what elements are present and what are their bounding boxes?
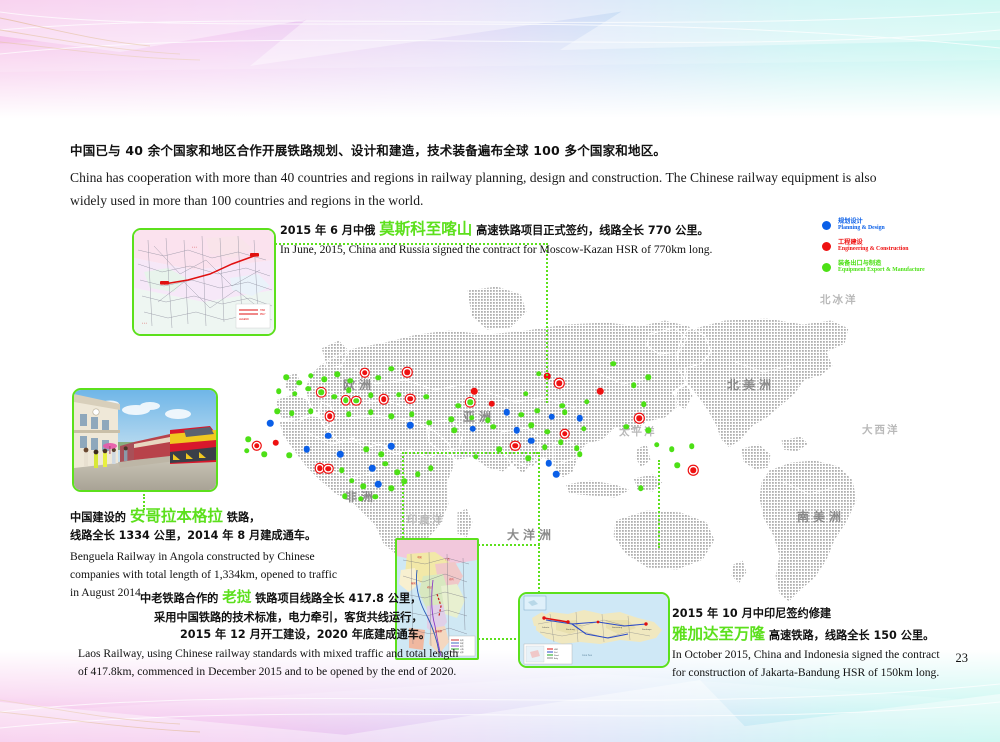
map-marker-green[interactable] bbox=[334, 371, 340, 377]
svg-text:HSR: HSR bbox=[554, 649, 559, 651]
map-marker-ring[interactable] bbox=[254, 443, 260, 449]
map-marker-ring[interactable] bbox=[637, 416, 643, 422]
map-marker-green[interactable] bbox=[559, 403, 565, 409]
map-marker-ringg[interactable] bbox=[353, 398, 359, 404]
map-marker-green[interactable] bbox=[368, 409, 374, 415]
svg-text:Jakarta: Jakarta bbox=[542, 626, 550, 629]
svg-text:RWY: RWY bbox=[260, 313, 266, 316]
map-marker-ring[interactable] bbox=[317, 465, 323, 471]
callout-benguela-en-line1: Benguela Railway in Angola constructed b… bbox=[70, 548, 337, 566]
svg-text:Semarang: Semarang bbox=[612, 626, 623, 629]
map-marker-ring[interactable] bbox=[691, 467, 697, 473]
map-marker-ring[interactable] bbox=[405, 369, 411, 375]
map-marker-green[interactable] bbox=[631, 383, 637, 389]
map-marker-green[interactable] bbox=[645, 374, 651, 380]
moscow-cn-pre: 2015 年 6 月中俄 bbox=[280, 224, 379, 237]
ocean-label-arctic: 北冰洋 bbox=[820, 292, 858, 307]
map-marker-green[interactable] bbox=[409, 411, 415, 417]
map-marker-green[interactable] bbox=[610, 361, 616, 367]
intro-en-line-2: in more than 100 countries and regions i… bbox=[139, 193, 424, 208]
inset-java-jakarta-bandung-map[interactable]: HSRRail RoadBdry Java Sea JakartaBandung… bbox=[518, 592, 670, 668]
map-marker-ring[interactable] bbox=[362, 370, 368, 376]
map-marker-green[interactable] bbox=[448, 416, 454, 422]
callout-laos-en-line2: of 417.8km, commenced in December 2015 a… bbox=[78, 663, 392, 681]
benguela-station-photo-graphic bbox=[74, 390, 216, 490]
map-marker-red[interactable] bbox=[489, 400, 496, 407]
map-marker-blue[interactable] bbox=[267, 420, 274, 427]
map-marker-green[interactable] bbox=[558, 439, 564, 445]
laos-cn-post: 铁路项目线路全长 417.8 公里， bbox=[251, 592, 421, 605]
map-marker-green[interactable] bbox=[292, 391, 298, 397]
callout-moscow-kazan-en: In June, 2015, China and Russia signed t… bbox=[280, 241, 712, 259]
map-marker-blue[interactable] bbox=[337, 451, 344, 458]
callout-moscow-kazan-cn: 2015 年 6 月中俄 莫斯科至喀山 高速铁路项目正式签约，线路全长 770 … bbox=[280, 218, 712, 241]
svg-text:• • •: • • • bbox=[192, 245, 197, 249]
svg-text:LEGEND: LEGEND bbox=[239, 318, 249, 321]
map-marker-ringg[interactable] bbox=[343, 397, 349, 403]
svg-text:• • •: • • • bbox=[142, 321, 147, 325]
map-legend: 规划设计 Planning & Design 工程建设 Engineering … bbox=[822, 218, 962, 280]
map-marker-blue[interactable] bbox=[546, 460, 553, 467]
map-marker-green[interactable] bbox=[348, 378, 354, 384]
map-marker-green[interactable] bbox=[388, 486, 394, 492]
jakarta-cn-post: 高速铁路，线路全长 150 公里。 bbox=[765, 629, 934, 642]
map-marker-green[interactable] bbox=[562, 409, 568, 415]
map-marker-green[interactable] bbox=[542, 444, 548, 450]
legend-dot-green bbox=[822, 263, 831, 272]
inset-russia-railway-map[interactable]: HSRRWY LEGEND • • •• • • bbox=[132, 228, 276, 336]
map-marker-green[interactable] bbox=[388, 366, 394, 372]
map-marker-ring[interactable] bbox=[556, 381, 562, 387]
slide-page: 中国已与 40 余个国家和地区合作开展铁路规划、设计和建造，技术装备遍布全球 1… bbox=[0, 0, 1000, 742]
callout-jakarta-cn-line1: 2015 年 10 月中印尼签约修建 bbox=[672, 606, 940, 623]
map-marker-green[interactable] bbox=[577, 451, 583, 457]
map-marker-blue[interactable] bbox=[369, 465, 376, 472]
continent-label-oceania: 大洋洲 bbox=[507, 526, 555, 543]
map-marker-green[interactable] bbox=[428, 465, 434, 471]
legend-label-en-engineering: Engineering & Construction bbox=[838, 246, 909, 253]
map-marker-green[interactable] bbox=[276, 388, 282, 394]
map-marker-ring[interactable] bbox=[327, 413, 333, 419]
svg-text:Rail: Rail bbox=[554, 652, 558, 654]
map-marker-green[interactable] bbox=[286, 453, 292, 459]
map-marker-green[interactable] bbox=[529, 423, 535, 429]
ocean-label-indian: 印度洋 bbox=[407, 512, 445, 527]
callout-moscow-kazan: 2015 年 6 月中俄 莫斯科至喀山 高速铁路项目正式签约，线路全长 770 … bbox=[280, 218, 712, 259]
benguela-cn-pre: 中国建设的 bbox=[70, 511, 130, 524]
map-marker-green[interactable] bbox=[361, 483, 367, 489]
map-marker-blue[interactable] bbox=[514, 427, 521, 434]
map-marker-ring[interactable] bbox=[407, 396, 413, 402]
map-marker-green[interactable] bbox=[296, 380, 302, 386]
jakarta-cn-highlight: 雅加达至万隆 bbox=[672, 625, 765, 643]
map-marker-green[interactable] bbox=[349, 478, 355, 484]
map-marker-green[interactable] bbox=[426, 420, 432, 426]
map-marker-green[interactable] bbox=[624, 424, 630, 430]
map-marker-green[interactable] bbox=[289, 411, 295, 417]
map-marker-green[interactable] bbox=[358, 496, 364, 502]
map-marker-green[interactable] bbox=[415, 472, 421, 478]
map-marker-green[interactable] bbox=[346, 411, 352, 417]
callout-laos-cn-line2: 采用中国铁路的技术标准，电力牵引，客货共线运行， bbox=[140, 610, 392, 627]
map-marker-ring[interactable] bbox=[513, 443, 519, 449]
callout-jakarta-cn-line2: 雅加达至万隆 高速铁路，线路全长 150 公里。 bbox=[672, 623, 940, 646]
map-marker-green[interactable] bbox=[675, 462, 681, 468]
map-marker-green[interactable] bbox=[469, 415, 475, 421]
map-marker-blue[interactable] bbox=[407, 422, 414, 429]
map-marker-green[interactable] bbox=[332, 394, 338, 400]
map-marker-ringg[interactable] bbox=[467, 399, 473, 405]
map-marker-green[interactable] bbox=[283, 374, 289, 380]
legend-label-cn-planning: 规划设计 bbox=[838, 218, 885, 225]
inset-angola-railway-photo[interactable] bbox=[72, 388, 218, 492]
intro-paragraph-chinese: 中国已与 40 余个国家和地区合作开展铁路规划、设计和建造，技术装备遍布全球 1… bbox=[70, 140, 940, 159]
map-marker-blue[interactable] bbox=[576, 415, 583, 422]
map-marker-green[interactable] bbox=[372, 494, 378, 500]
connector-asia-frame-top bbox=[402, 452, 538, 454]
callout-benguela-en-line2: companies with total length of 1,334km, … bbox=[70, 566, 337, 584]
map-marker-ring[interactable] bbox=[562, 431, 568, 437]
map-marker-green[interactable] bbox=[375, 375, 381, 381]
map-marker-ring[interactable] bbox=[326, 466, 332, 472]
map-marker-green[interactable] bbox=[275, 409, 281, 415]
connector-laos-left bbox=[402, 452, 404, 546]
page-number: 23 bbox=[956, 651, 969, 666]
benguela-cn-post: 铁路， bbox=[223, 511, 260, 524]
map-marker-green[interactable] bbox=[689, 444, 695, 450]
map-marker-green[interactable] bbox=[638, 486, 644, 492]
map-marker-green[interactable] bbox=[364, 446, 370, 452]
map-marker-blue[interactable] bbox=[470, 426, 477, 433]
svg-text:Surabaya: Surabaya bbox=[642, 628, 652, 631]
legend-item-engineering[interactable]: 工程建设 Engineering & Construction bbox=[822, 239, 962, 253]
benguela-cn-highlight: 安哥拉本格拉 bbox=[130, 507, 223, 525]
connector-europe-vertical bbox=[658, 460, 660, 548]
map-marker-green[interactable] bbox=[456, 403, 462, 409]
map-marker-blue[interactable] bbox=[528, 437, 535, 444]
russia-railway-map-graphic: HSRRWY LEGEND • • •• • • bbox=[134, 230, 274, 334]
moscow-cn-post: 高速铁路项目正式签约，线路全长 770 公里。 bbox=[472, 224, 708, 237]
svg-text:Road: Road bbox=[554, 655, 559, 657]
map-marker-green[interactable] bbox=[244, 448, 250, 454]
map-marker-blue[interactable] bbox=[553, 471, 560, 478]
map-marker-blue[interactable] bbox=[325, 433, 332, 440]
map-marker-green[interactable] bbox=[581, 426, 587, 432]
callout-benguela-cn-line2: 线路全长 1334 公里，2014 年 8 月建成通车。 bbox=[70, 528, 337, 545]
callout-jakarta-en-line1: In October 2015, China and Indonesia sig… bbox=[672, 646, 940, 664]
callout-jakarta-bandung: 2015 年 10 月中印尼签约修建 雅加达至万隆 高速铁路，线路全长 150 … bbox=[672, 606, 940, 682]
map-marker-green[interactable] bbox=[368, 392, 374, 398]
legend-dot-blue bbox=[822, 221, 831, 230]
map-marker-green[interactable] bbox=[451, 427, 457, 433]
map-marker-red[interactable] bbox=[597, 388, 604, 395]
legend-label-cn-equipment: 装备出口与制造 bbox=[838, 260, 925, 267]
laos-cn-highlight: 老挝 bbox=[222, 590, 251, 606]
map-marker-green[interactable] bbox=[473, 454, 479, 460]
world-map[interactable]: 北冰洋 太平洋 大西洋 印度洋 欧洲 亚洲 非洲 大洋洲 北美洲 南美洲 bbox=[235, 272, 965, 622]
ocean-label-atlantic: 大西洋 bbox=[862, 422, 900, 437]
map-marker-ring[interactable] bbox=[381, 397, 387, 403]
map-marker-green[interactable] bbox=[534, 408, 540, 414]
map-marker-blue[interactable] bbox=[549, 414, 556, 421]
moscow-cn-highlight: 莫斯科至喀山 bbox=[379, 220, 472, 238]
map-marker-green[interactable] bbox=[388, 413, 394, 419]
map-marker-green[interactable] bbox=[383, 461, 389, 467]
svg-text:HSR: HSR bbox=[260, 309, 265, 312]
callout-jakarta-en-line2: for construction of Jakarta-Bandung HSR … bbox=[672, 664, 940, 682]
legend-dot-red bbox=[822, 242, 831, 251]
legend-label-en-planning: Planning & Design bbox=[838, 225, 885, 232]
map-marker-green[interactable] bbox=[526, 455, 532, 461]
map-marker-green[interactable] bbox=[424, 394, 430, 400]
callout-laos-cn-line3: 2015 年 12 月开工建设，2020 年底建成通车。 bbox=[140, 627, 392, 644]
map-marker-blue[interactable] bbox=[503, 409, 510, 416]
map-marker-green[interactable] bbox=[342, 493, 348, 499]
map-marker-green[interactable] bbox=[545, 429, 551, 435]
map-marker-green[interactable] bbox=[518, 412, 524, 418]
connector-moscow-vertical bbox=[546, 243, 548, 403]
map-marker-green[interactable] bbox=[523, 391, 529, 397]
continent-label-south-america: 南美洲 bbox=[797, 508, 845, 525]
java-map-graphic: HSRRail RoadBdry Java Sea JakartaBandung… bbox=[520, 594, 668, 666]
callout-laos-cn-line1: 中老铁路合作的 老挝 铁路项目线路全长 417.8 公里， bbox=[140, 588, 392, 610]
callout-laos-en-line1: Laos Railway, using Chinese railway stan… bbox=[78, 645, 392, 663]
map-marker-green[interactable] bbox=[394, 469, 400, 475]
callout-laos: 中老铁路合作的 老挝 铁路项目线路全长 417.8 公里， 采用中国铁路的技术标… bbox=[140, 588, 392, 681]
svg-text:Bdry: Bdry bbox=[554, 657, 558, 660]
map-marker-green[interactable] bbox=[378, 451, 384, 457]
map-marker-green[interactable] bbox=[584, 399, 590, 405]
map-marker-green[interactable] bbox=[654, 442, 660, 448]
svg-text:Java Sea: Java Sea bbox=[582, 654, 593, 657]
map-marker-green[interactable] bbox=[536, 371, 542, 377]
legend-item-planning[interactable]: 规划设计 Planning & Design bbox=[822, 218, 962, 232]
map-marker-green[interactable] bbox=[305, 386, 311, 392]
intro-paragraph-english: China has cooperation with more than 40 … bbox=[70, 166, 882, 213]
map-marker-blue[interactable] bbox=[375, 481, 382, 488]
world-map-landmass bbox=[235, 272, 965, 622]
map-marker-green[interactable] bbox=[321, 376, 327, 382]
map-marker-green[interactable] bbox=[339, 467, 345, 473]
map-marker-red[interactable] bbox=[471, 388, 478, 395]
map-marker-green[interactable] bbox=[491, 424, 497, 430]
map-marker-red[interactable] bbox=[273, 440, 280, 447]
map-marker-green[interactable] bbox=[485, 418, 491, 424]
continent-label-north-america: 北美洲 bbox=[727, 376, 775, 393]
svg-text:Bandung: Bandung bbox=[566, 629, 576, 631]
map-marker-green[interactable] bbox=[245, 437, 251, 443]
map-marker-green[interactable] bbox=[669, 446, 675, 452]
map-marker-green[interactable] bbox=[641, 402, 647, 408]
map-marker-green[interactable] bbox=[308, 373, 314, 379]
map-marker-green[interactable] bbox=[396, 392, 402, 398]
slide-content: 中国已与 40 余个国家和地区合作开展铁路规划、设计和建造，技术装备遍布全球 1… bbox=[0, 0, 1000, 742]
map-marker-blue[interactable] bbox=[303, 446, 310, 453]
map-marker-green[interactable] bbox=[645, 427, 651, 433]
map-marker-green[interactable] bbox=[308, 409, 314, 415]
legend-label-cn-engineering: 工程建设 bbox=[838, 239, 909, 246]
map-marker-green[interactable] bbox=[261, 451, 267, 457]
map-marker-green[interactable] bbox=[346, 388, 352, 394]
map-marker-blue[interactable] bbox=[388, 443, 395, 450]
laos-cn-pre: 中老铁路合作的 bbox=[140, 592, 222, 605]
map-marker-ringg[interactable] bbox=[318, 390, 324, 396]
callout-benguela-cn-line1: 中国建设的 安哥拉本格拉 铁路， bbox=[70, 505, 337, 528]
